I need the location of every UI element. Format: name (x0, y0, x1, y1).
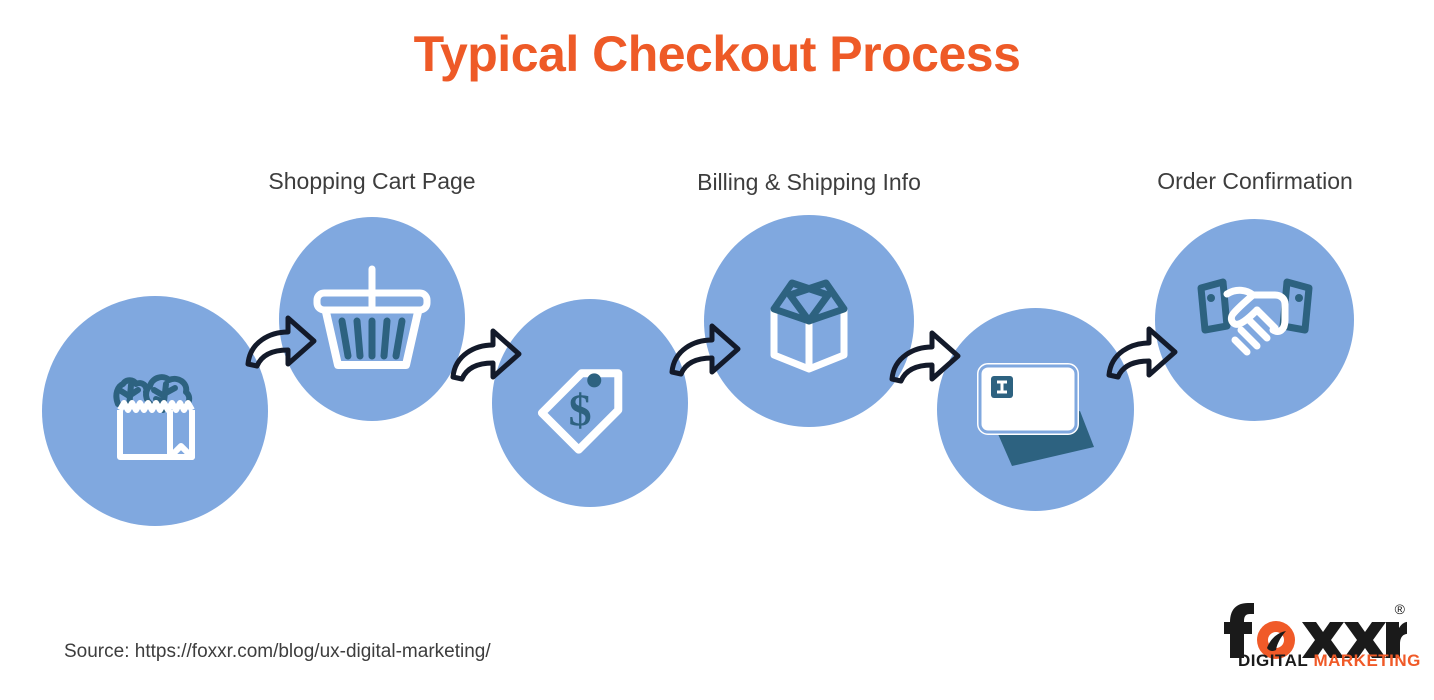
registered-trademark-symbol: ® (1395, 602, 1405, 616)
arrow-5 (1105, 323, 1181, 385)
source-attribution: Source: https://foxxr.com/blog/ux-digita… (64, 641, 491, 663)
step-6-label: Order Confirmation (1095, 167, 1415, 196)
arrow-2 (449, 325, 525, 387)
logo-tagline-marketing: MARKETING (1313, 651, 1420, 670)
arrow-4 (888, 327, 964, 389)
infographic-canvas: Typical Checkout Process (0, 0, 1434, 700)
handshake-icon (1155, 219, 1354, 421)
logo-wordmark: ® (1222, 600, 1407, 654)
step-2-label: Shopping Cart Page (212, 167, 532, 196)
svg-text:$: $ (569, 384, 592, 435)
arrow-1 (244, 312, 320, 374)
foxxr-logo: ® DIGITAL MARKETING (1222, 600, 1407, 678)
step-4-label: Billing & Shipping Info (649, 168, 969, 197)
page-title: Typical Checkout Process (0, 24, 1434, 84)
step-1-product-page: Product Page (42, 296, 268, 526)
logo-tagline-digital: DIGITAL (1238, 651, 1308, 670)
step-6-order-confirmation: Order Confirmation (1155, 219, 1354, 421)
grocery-bag-icon (42, 296, 268, 526)
arrow-3 (668, 320, 744, 382)
logo-tagline: DIGITAL MARKETING (1238, 652, 1421, 669)
